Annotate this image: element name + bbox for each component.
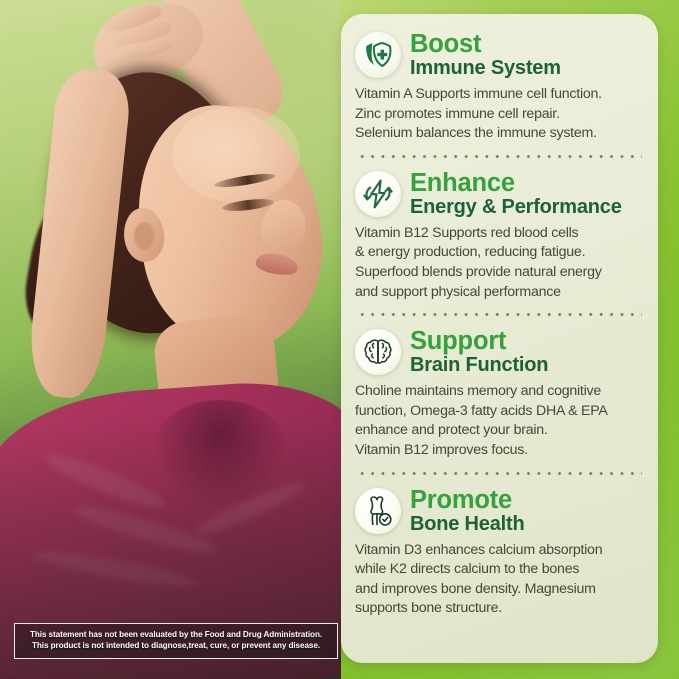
disclaimer-line-2: This product is not intended to diagnose… bbox=[19, 640, 333, 651]
feature-support-brain-function: Support Brain Function Choline maintains… bbox=[355, 327, 644, 460]
feature-titles: Promote Bone Health bbox=[410, 486, 524, 536]
feature-header: Promote Bone Health bbox=[355, 486, 644, 536]
disclaimer-line-1: This statement has not been evaluated by… bbox=[19, 629, 333, 640]
feature-header: Support Brain Function bbox=[355, 327, 644, 377]
feature-titles: Enhance Energy & Performance bbox=[410, 169, 622, 219]
photo-vignette bbox=[0, 0, 341, 679]
lightning-bolt-energy-icon bbox=[355, 171, 401, 217]
feature-subtitle: Immune System bbox=[410, 57, 561, 80]
fda-disclaimer: This statement has not been evaluated by… bbox=[14, 623, 338, 659]
section-divider-1 bbox=[357, 155, 642, 158]
feature-body: Vitamin D3 enhances calcium absorption w… bbox=[355, 541, 644, 619]
benefits-card: Boost Immune System Vitamin A Supports i… bbox=[341, 14, 658, 663]
feature-title: Boost bbox=[410, 31, 561, 58]
feature-header: Enhance Energy & Performance bbox=[355, 169, 644, 219]
feature-boost-immune-system: Boost Immune System Vitamin A Supports i… bbox=[355, 14, 644, 144]
lifestyle-photo bbox=[0, 0, 341, 679]
feature-title: Promote bbox=[410, 487, 524, 514]
feature-subtitle: Brain Function bbox=[410, 354, 548, 377]
feature-subtitle: Bone Health bbox=[410, 513, 524, 536]
infographic-canvas: This statement has not been evaluated by… bbox=[0, 0, 679, 679]
section-divider-3 bbox=[357, 472, 642, 475]
shield-cross-icon bbox=[355, 32, 401, 78]
feature-enhance-energy-performance: Enhance Energy & Performance Vitamin B12… bbox=[355, 169, 644, 302]
brain-icon bbox=[355, 329, 401, 375]
feature-titles: Boost Immune System bbox=[410, 30, 561, 80]
feature-body: Choline maintains memory and cognitive f… bbox=[355, 382, 644, 460]
feature-promote-bone-health: Promote Bone Health Vitamin D3 enhances … bbox=[355, 486, 644, 619]
section-divider-2 bbox=[357, 313, 642, 316]
feature-title: Support bbox=[410, 328, 548, 355]
feature-body: Vitamin A Supports immune cell function.… bbox=[355, 85, 644, 144]
feature-titles: Support Brain Function bbox=[410, 327, 548, 377]
feature-title: Enhance bbox=[410, 170, 622, 197]
feature-header: Boost Immune System bbox=[355, 30, 644, 80]
feature-body: Vitamin B12 Supports red blood cells & e… bbox=[355, 224, 644, 302]
bone-joint-check-icon bbox=[355, 488, 401, 534]
feature-subtitle: Energy & Performance bbox=[410, 196, 622, 219]
